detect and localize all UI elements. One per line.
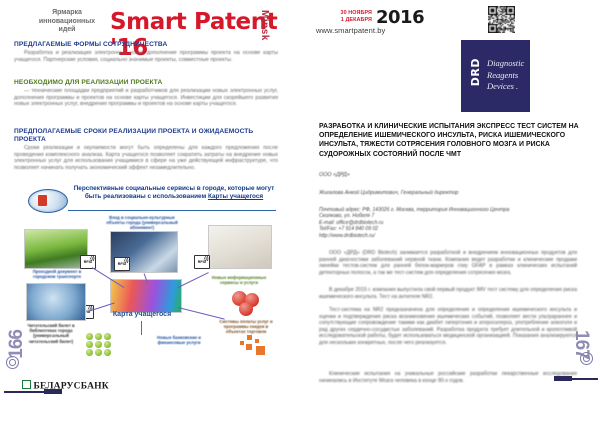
center-card-label: Карта учащегося (102, 311, 182, 318)
section-heading-cooperation: ПРЕДЛАГАЕМЫЕ ФОРМЫ СОТРУДНИЧЕСТВА (14, 41, 278, 49)
orange-squares-icon (240, 335, 274, 357)
body-paragraph-1: ООО «ДРД» (DRD Biotech) занимается разра… (319, 250, 577, 276)
right-page: 30 НОЯБРЯ 1 ДЕКАБРЯ 2016 www.smartpatent… (292, 0, 600, 425)
id-card-logo-icon (28, 189, 68, 213)
body-paragraph-3: Тест-система на NR2 предназначена для оп… (319, 307, 577, 346)
section-heading-timeline: ПРЕДПОЛАГАЕМЫЕ СРОКИ РЕАЛИЗАЦИИ ПРОЕКТА … (14, 128, 278, 144)
event-year: 2016 (376, 7, 424, 28)
left-page-header: Ярмарка инновационных идей Smart Patent … (10, 4, 285, 38)
contact-block: Почтовый адрес: РФ, 143026 г. Москва, те… (319, 207, 569, 239)
rfid-icon-turnstile: ›)) RFID (114, 257, 130, 271)
event-date-line-1: 30 НОЯБРЯ (318, 10, 372, 17)
fair-line-1: Ярмарка (28, 9, 106, 18)
fair-line-2: инновационных (28, 18, 106, 27)
contact-website[interactable]: http://www.drdbiotech.ru/ (319, 233, 569, 239)
body-paragraph-2: В декабре 2015 г. компания выпустила сво… (319, 287, 577, 300)
caption-transport: Проездной документ в городском транспорт… (22, 269, 92, 279)
rfid-wave-icon: ›)) (124, 259, 129, 264)
belarusbank-logo: БЕЛАРУСБАНК (22, 380, 109, 392)
project-title: РАЗРАБОТКА И КЛИНИЧЕСКИЕ ИСПЫТАНИЯ ЭКСПР… (319, 122, 581, 159)
city-label: Minsk (259, 10, 270, 41)
section-body-timeline: Сроки реализации и окупаемости могут быт… (14, 145, 278, 171)
fair-label: Ярмарка инновационных идей (28, 9, 106, 35)
page-number-left: 166 (6, 330, 28, 359)
caption-retail: Системы оплаты услуг и программы скидок … (214, 319, 278, 335)
left-page: Ярмарка инновационных идей Smart Patent … (0, 0, 292, 425)
rfid-icon-services: ›)) RFID (194, 255, 210, 269)
caption-library: Читательский билет в библиотеках города … (20, 323, 82, 344)
caption-cultural-access: Вход в социально-культурные объекты горо… (100, 215, 184, 231)
body-paragraph-4: Клинические испытания на уникальные росс… (319, 371, 577, 384)
caption-banking: Новые банковские и финансовые услуги (148, 335, 210, 345)
belarusbank-label: БЕЛАРУСБАНК (34, 382, 109, 392)
center-connector (141, 321, 142, 335)
infographic: Перспективные социальные сервисы в город… (18, 183, 280, 373)
photo-documents (208, 225, 272, 269)
rfid-wave-icon: ›)) (204, 257, 209, 262)
infographic-divider (68, 210, 276, 211)
page-number-right: 167 (570, 330, 592, 359)
fair-line-3: идей (28, 26, 106, 35)
drd-tagline-line-3: Devices . (487, 81, 524, 93)
drd-tagline-line-2: Reagents (487, 70, 524, 82)
infographic-title: Перспективные социальные сервисы в город… (70, 185, 278, 201)
section-body-requirements: — технические площадки предприятий и раз… (14, 88, 278, 108)
event-date-line-2: 1 ДЕКАБРЯ (318, 17, 372, 24)
infographic-title-line-3: Карты учащегося (208, 193, 263, 200)
drd-tagline: Diagnostic Reagents Devices . (487, 58, 524, 93)
photo-library (26, 283, 86, 321)
contact-person: Жигалова Анкой Цидримитович, Генеральный… (319, 190, 458, 196)
drd-tagline-line-1: Diagnostic (487, 58, 524, 70)
green-dots-cluster-icon (86, 333, 112, 355)
arrow-card-to-services (178, 272, 209, 288)
qr-code-icon (487, 5, 516, 34)
infographic-title-line-1: Перспективные социальные сервисы в город… (74, 185, 226, 192)
caption-info-services: Новые информационные сервисы и услуги (208, 275, 270, 285)
event-url: www.smartpatent.by (316, 26, 385, 35)
photo-city-bus (24, 229, 88, 269)
drd-monogram: DRD (469, 58, 482, 86)
rfid-wave-icon: ›)) (90, 257, 95, 262)
belarusbank-mark-icon (22, 380, 31, 389)
section-heading-requirements: НЕОБХОДИМО ДЛЯ РЕАЛИЗАЦИИ ПРОЕКТА (14, 79, 278, 87)
magazine-spread: Ярмарка инновационных идей Smart Patent … (0, 0, 600, 425)
red-discount-dots-icon (232, 291, 266, 317)
company-name: ООО «ДРД» (319, 172, 350, 178)
section-body-cooperation: Разработка и реализация электронных услу… (14, 50, 278, 63)
event-dates: 30 НОЯБРЯ 1 ДЕКАБРЯ (318, 10, 372, 23)
drd-logo: DRD Diagnostic Reagents Devices . (461, 40, 530, 112)
right-footer-block (554, 376, 572, 381)
arrow-card-to-retail (178, 307, 225, 320)
